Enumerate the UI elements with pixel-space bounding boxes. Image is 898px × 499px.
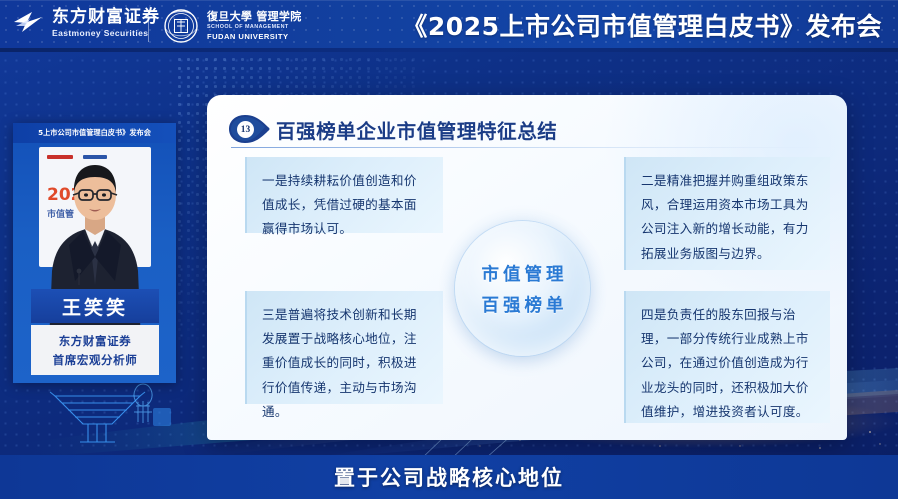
feature-point-1: 一是持续耕耘价值创造和价值成长，凭借过硬的基本面赢得市场认可。 (245, 157, 443, 233)
speaker-org: 东方财富证券 (59, 333, 132, 349)
partner-name-en-university: FUDAN UNIVERSITY (207, 33, 302, 41)
slide-number: 13 (237, 121, 254, 138)
podium-decoration-icon (0, 378, 190, 453)
speaker-role: 首席宏观分析师 (53, 352, 138, 368)
feature-point-3: 三是普遍将技术创新和长期发展置于战略核心地位，注重价值成长的同时，积极进行价值传… (245, 291, 443, 404)
header-divider (148, 10, 149, 42)
feature-point-4: 四是负责任的股东回报与治理，一部分传统行业成熟上市公司，在通过价值创造成为行业龙… (624, 291, 830, 423)
slide-title-underline (231, 147, 825, 148)
partner-name-en-school: SCHOOL OF MANAGEMENT (207, 25, 302, 31)
top-header-bar: 东方财富证券 Eastmoney Securities 復旦大學 管理学院 SC… (0, 0, 898, 52)
slide-number-badge: 13 (228, 114, 274, 144)
speaker-banner-text: 5上市公司市值管理白皮书》发布会 (38, 128, 151, 138)
presentation-slide[interactable]: 13 百强榜单企业市值管理特征总结 一是持续耕耘价值创造和价值成长，凭借过硬的基… (207, 95, 847, 440)
feature-point-2: 二是精准把握并购重组政策东风，合理运用资本市场工具为公司注入新的增长动能，有力拓… (624, 157, 830, 270)
slide-heading: 百强榜单企业市值管理特征总结 (276, 115, 557, 144)
subtitle-text: 置于公司战略核心地位 (334, 462, 564, 492)
speaker-backdrop-banner: 5上市公司市值管理白皮书》发布会 (13, 123, 176, 143)
speaker-name: 王笑笑 (62, 293, 128, 320)
eastmoney-mark-icon (12, 8, 46, 38)
fudan-seal-icon (162, 7, 200, 45)
slide-title-row: 13 百强榜单企业市值管理特征总结 (228, 114, 557, 144)
brand-name-cn: 东方财富证券 (52, 9, 160, 26)
subtitle-bar: 置于公司战略核心地位 (0, 455, 898, 499)
fudan-logo: 復旦大學 管理学院 SCHOOL OF MANAGEMENT FUDAN UNI… (162, 7, 302, 45)
speaker-role-box: 东方财富证券 首席宏观分析师 (31, 325, 159, 375)
broadcast-stage: 东方财富证券 Eastmoney Securities 復旦大學 管理学院 SC… (0, 0, 898, 499)
brand-name-en: Eastmoney Securities (52, 29, 160, 38)
center-circle-label: 市值管理 百强榜单 (455, 221, 590, 356)
speaker-video-panel[interactable]: 5上市公司市值管理白皮书》发布会 2025 上市 市值管 (13, 123, 176, 383)
event-title: 《2025上市公司市值管理白皮书》发布会 (402, 7, 882, 43)
eastmoney-logo: 东方财富证券 Eastmoney Securities (12, 8, 160, 38)
center-label-line1: 市值管理 (478, 261, 568, 286)
partner-name-cn: 復旦大學 管理学院 (207, 11, 302, 23)
center-label-line2: 百强榜单 (478, 292, 568, 317)
speaker-nameplate: 王笑笑 (31, 289, 159, 323)
